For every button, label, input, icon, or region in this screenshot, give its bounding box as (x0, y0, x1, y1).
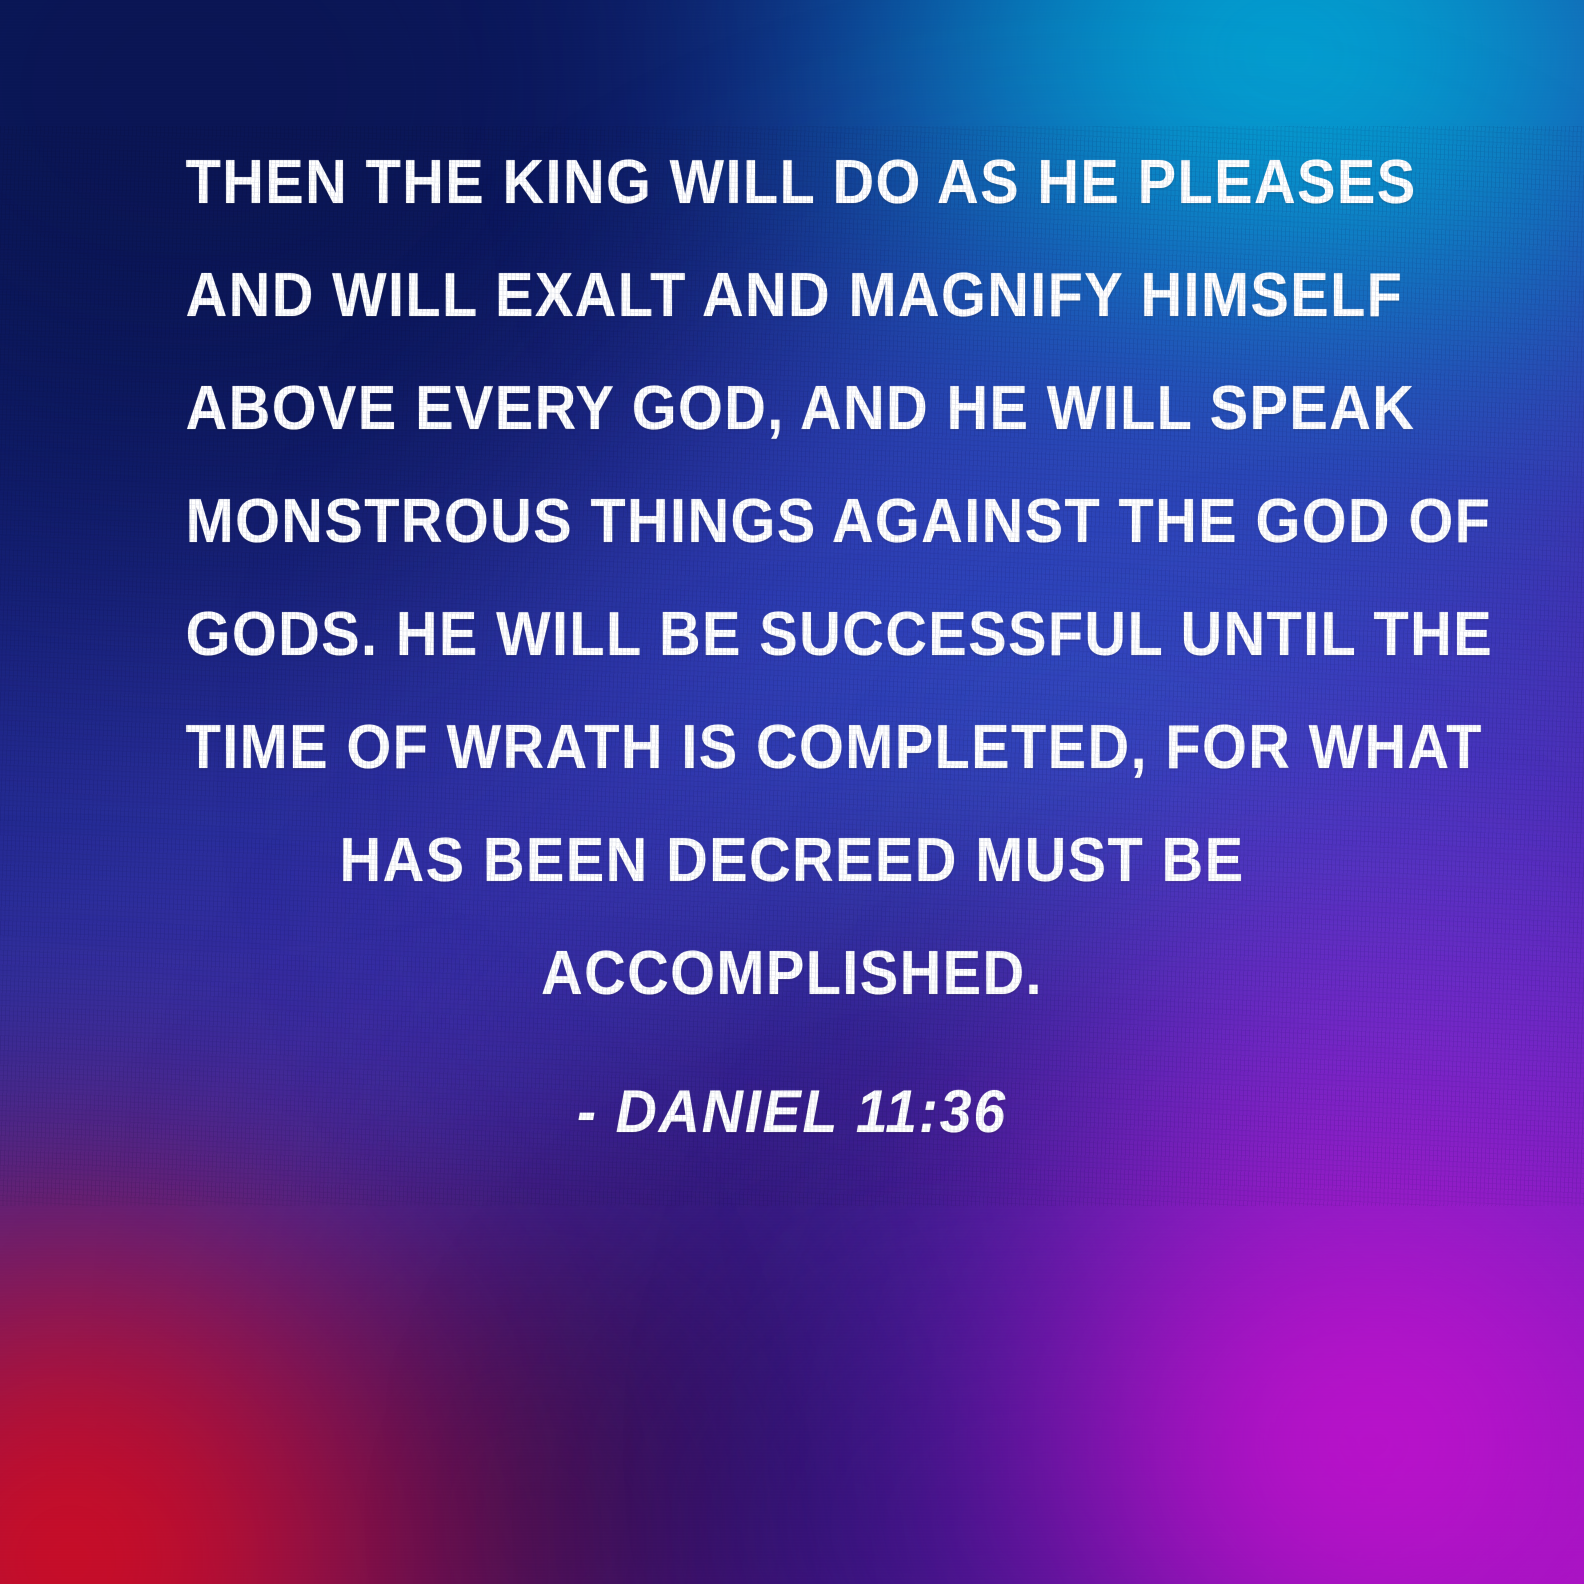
verse-line: TIME OF WRATH IS COMPLETED, FOR WHAT (186, 691, 1399, 804)
verse-line: AND WILL EXALT AND MAGNIFY HIMSELF (186, 239, 1399, 352)
verse-attribution: - DANIEL 11:36 (173, 1074, 1412, 1150)
verse-line: GODS. HE WILL BE SUCCESSFUL UNTIL THE (186, 578, 1399, 691)
verse-line: ABOVE EVERY GOD, AND HE WILL SPEAK (186, 352, 1399, 465)
scripture-image-canvas: THEN THE KING WILL DO AS HE PLEASES AND … (0, 0, 1584, 1584)
verse-line: THEN THE KING WILL DO AS HE PLEASES (186, 126, 1399, 239)
verse-line: ACCOMPLISHED. (186, 917, 1399, 1030)
verse-line: MONSTROUS THINGS AGAINST THE GOD OF (186, 465, 1399, 578)
scripture-quote-block: THEN THE KING WILL DO AS HE PLEASES AND … (0, 126, 1584, 1150)
verse-line: HAS BEEN DECREED MUST BE (186, 804, 1399, 917)
